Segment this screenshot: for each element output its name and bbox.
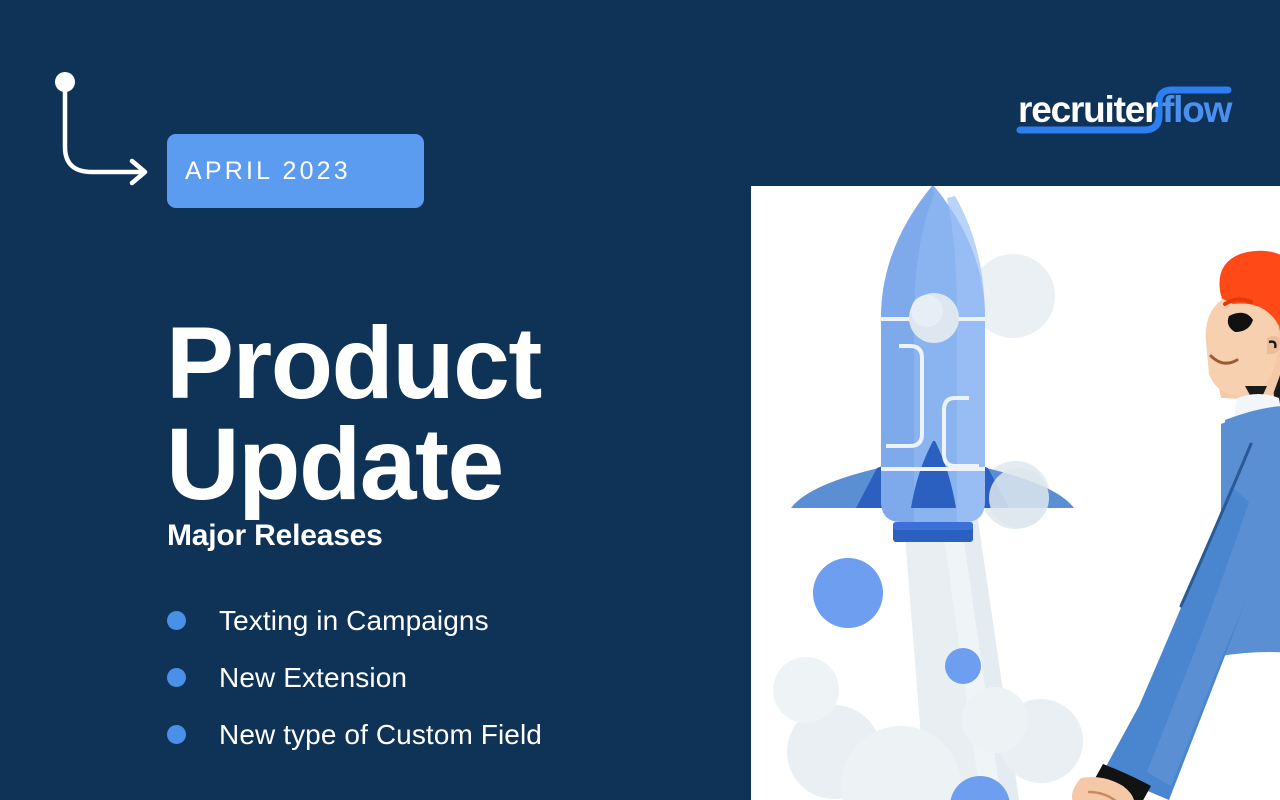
major-releases-list: Texting in Campaigns New Extension New t… (167, 592, 687, 763)
list-item-label: New type of Custom Field (219, 719, 542, 751)
list-item-label: New Extension (219, 662, 407, 694)
date-badge: APRIL 2023 (167, 134, 424, 208)
recruiterflow-logo: recruiter flow (1014, 80, 1244, 142)
list-item: New Extension (167, 649, 687, 706)
date-badge-label: APRIL 2023 (185, 157, 351, 186)
section-subtitle: Major Releases (167, 519, 383, 553)
list-item: Texting in Campaigns (167, 592, 687, 649)
product-update-slide: recruiter flow APRIL 2023 Product Update… (0, 0, 1280, 800)
logo-text-recruiter: recruiter (1018, 89, 1158, 130)
curved-arrow-icon (44, 62, 164, 192)
list-item-label: Texting in Campaigns (219, 605, 489, 637)
bullet-dot-icon (167, 668, 186, 687)
rocket-launch-illustration (751, 186, 1280, 800)
logo-text-flow: flow (1162, 89, 1233, 130)
bullet-dot-icon (167, 611, 186, 630)
page-title-line-2: Update (166, 414, 726, 515)
bullet-dot-icon (167, 725, 186, 744)
list-item: New type of Custom Field (167, 706, 687, 763)
page-title: Product Update (166, 313, 726, 515)
page-title-line-1: Product (166, 313, 726, 414)
